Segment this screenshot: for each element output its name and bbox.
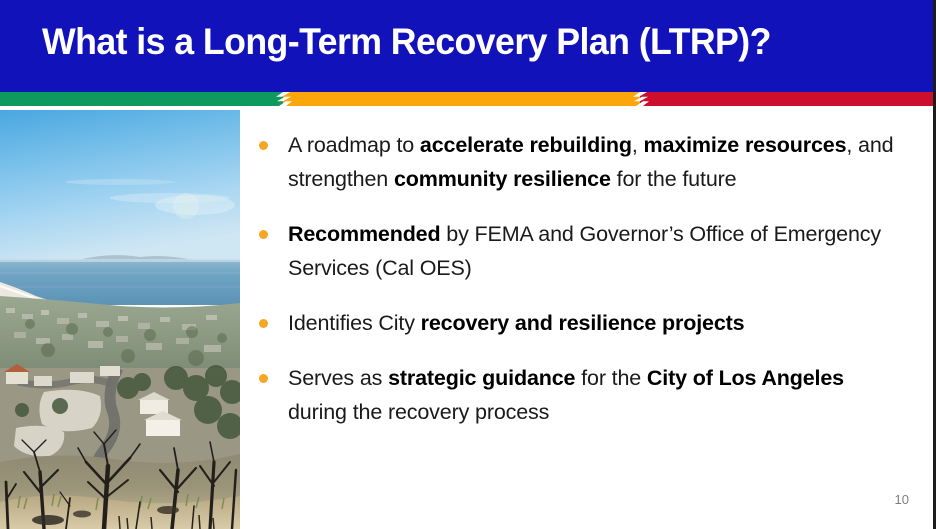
bullet-identifies-text: Identifies City recovery and resilience … <box>288 311 744 335</box>
bullet-dot-icon <box>259 141 268 150</box>
bullet-dot-icon <box>259 319 268 328</box>
stripe-zigzag-notch-icon <box>273 92 295 106</box>
bullet-dot-icon <box>259 230 268 239</box>
slide-number: 10 <box>895 492 909 507</box>
bullet-recommended-text: Recommended by FEMA and Governor’s Offic… <box>288 222 881 280</box>
list-item: Identifies City recovery and resilience … <box>250 306 900 340</box>
bullet-list: A roadmap to accelerate rebuilding, maxi… <box>250 128 900 450</box>
list-item: Recommended by FEMA and Governor’s Offic… <box>250 217 900 285</box>
accent-stripe <box>0 92 936 106</box>
slide: What is a Long-Term Recovery Plan (LTRP)… <box>0 0 936 529</box>
aerial-coastal-wildfire-damage-photo <box>0 110 240 529</box>
stripe-segment-red <box>640 92 936 106</box>
slide-title-bar: What is a Long-Term Recovery Plan (LTRP)… <box>0 0 936 92</box>
bullet-serves-text: Serves as strategic guidance for the Cit… <box>288 366 844 424</box>
stripe-segment-orange <box>283 92 640 106</box>
stripe-segment-green <box>0 92 283 106</box>
stripe-zigzag-notch-icon <box>630 92 652 106</box>
bullet-roadmap-text: A roadmap to accelerate rebuilding, maxi… <box>288 133 893 191</box>
page-title: What is a Long-Term Recovery Plan (LTRP)… <box>42 21 771 63</box>
bullet-dot-icon <box>259 374 268 383</box>
list-item: A roadmap to accelerate rebuilding, maxi… <box>250 128 900 196</box>
list-item: Serves as strategic guidance for the Cit… <box>250 361 900 429</box>
